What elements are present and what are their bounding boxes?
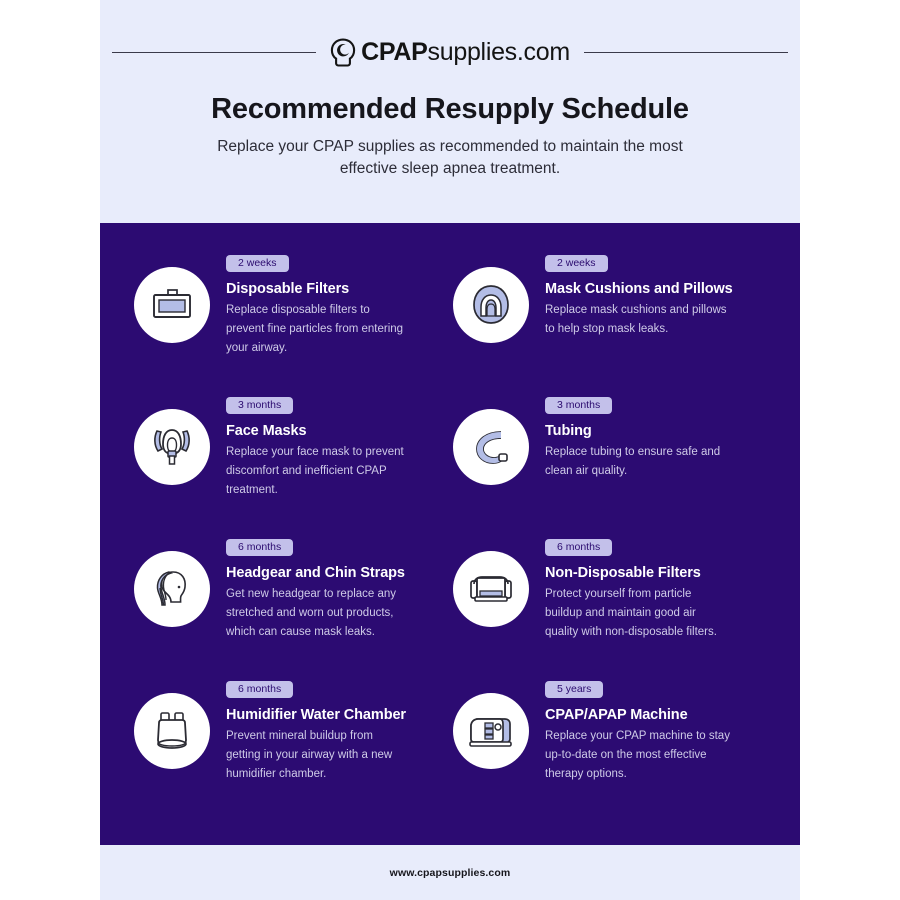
brand-logo[interactable]: CPAPsupplies.com xyxy=(330,38,570,67)
item-description: Replace your CPAP machine to stay up-to-… xyxy=(545,727,731,783)
footer-website-link[interactable]: www.cpapsupplies.com xyxy=(390,867,511,879)
humidifier-chamber-icon xyxy=(134,693,210,769)
item-description: Prevent mineral buildup from getting in … xyxy=(226,727,404,783)
disposable-filter-icon xyxy=(134,267,210,343)
item-description: Replace tubing to ensure safe and clean … xyxy=(545,443,731,480)
item-text: 5 years CPAP/APAP Machine Replace your C… xyxy=(545,677,731,783)
schedule-item-headgear[interactable]: 6 months Headgear and Chin Straps Get ne… xyxy=(134,535,447,677)
brand-name-bold: CPAP xyxy=(361,38,427,66)
schedule-item-mask-cushions[interactable]: 2 weeks Mask Cushions and Pillows Replac… xyxy=(453,251,766,393)
status-badge: 5 years xyxy=(545,681,603,699)
item-title: Face Masks xyxy=(226,423,404,439)
status-badge: 6 months xyxy=(226,539,293,557)
tubing-icon xyxy=(453,409,529,485)
status-badge: 6 months xyxy=(545,539,612,557)
item-text: 6 months Humidifier Water Chamber Preven… xyxy=(226,677,406,783)
status-badge: 2 weeks xyxy=(226,255,289,273)
item-title: CPAP/APAP Machine xyxy=(545,707,731,723)
schedule-item-cpap-machine[interactable]: 5 years CPAP/APAP Machine Replace your C… xyxy=(453,677,766,819)
item-description: Replace your face mask to prevent discom… xyxy=(226,443,404,499)
headgear-icon xyxy=(134,551,210,627)
schedule-item-disposable-filters[interactable]: 2 weeks Disposable Filters Replace dispo… xyxy=(134,251,447,393)
item-title: Mask Cushions and Pillows xyxy=(545,281,733,297)
header-spacer xyxy=(100,181,800,223)
divider-left xyxy=(112,52,316,53)
infographic-sheet: CPAPsupplies.com Recommended Resupply Sc… xyxy=(100,0,800,900)
schedule-item-non-disposable-filters[interactable]: 6 months Non-Disposable Filters Protect … xyxy=(453,535,766,677)
item-text: 6 months Non-Disposable Filters Protect … xyxy=(545,535,731,641)
status-badge: 3 months xyxy=(226,397,293,415)
item-description: Replace disposable filters to prevent fi… xyxy=(226,301,404,357)
item-text: 3 months Tubing Replace tubing to ensure… xyxy=(545,393,731,481)
page-subtitle: Replace your CPAP supplies as recommende… xyxy=(210,136,690,181)
brand-row: CPAPsupplies.com xyxy=(100,38,800,67)
schedule-item-humidifier[interactable]: 6 months Humidifier Water Chamber Preven… xyxy=(134,677,447,819)
item-description: Replace mask cushions and pillows to hel… xyxy=(545,301,731,338)
status-badge: 2 weeks xyxy=(545,255,608,273)
divider-right xyxy=(584,52,788,53)
item-title: Tubing xyxy=(545,423,731,439)
moon-pin-icon xyxy=(330,38,356,67)
item-text: 3 months Face Masks Replace your face ma… xyxy=(226,393,404,499)
item-title: Non-Disposable Filters xyxy=(545,565,731,581)
brand-name: CPAPsupplies.com xyxy=(361,38,570,67)
page-title: Recommended Resupply Schedule xyxy=(100,93,800,126)
cpap-machine-icon xyxy=(453,693,529,769)
footer: www.cpapsupplies.com xyxy=(100,845,800,900)
mask-cushion-icon xyxy=(453,267,529,343)
status-badge: 3 months xyxy=(545,397,612,415)
item-description: Get new headgear to replace any stretche… xyxy=(226,585,404,641)
non-disposable-filter-icon xyxy=(453,551,529,627)
item-description: Protect yourself from particle buildup a… xyxy=(545,585,731,641)
item-title: Disposable Filters xyxy=(226,281,404,297)
face-mask-icon xyxy=(134,409,210,485)
schedule-grid: 2 weeks Disposable Filters Replace dispo… xyxy=(134,251,766,819)
item-text: 2 weeks Mask Cushions and Pillows Replac… xyxy=(545,251,733,339)
item-text: 2 weeks Disposable Filters Replace dispo… xyxy=(226,251,404,357)
schedule-panel: 2 weeks Disposable Filters Replace dispo… xyxy=(100,223,800,845)
item-text: 6 months Headgear and Chin Straps Get ne… xyxy=(226,535,405,641)
item-title: Humidifier Water Chamber xyxy=(226,707,406,723)
brand-name-light: supplies.com xyxy=(428,38,570,66)
item-title: Headgear and Chin Straps xyxy=(226,565,405,581)
status-badge: 6 months xyxy=(226,681,293,699)
infographic-page: CPAPsupplies.com Recommended Resupply Sc… xyxy=(0,0,900,900)
schedule-item-tubing[interactable]: 3 months Tubing Replace tubing to ensure… xyxy=(453,393,766,535)
header: CPAPsupplies.com Recommended Resupply Sc… xyxy=(100,0,800,223)
schedule-item-face-masks[interactable]: 3 months Face Masks Replace your face ma… xyxy=(134,393,447,535)
